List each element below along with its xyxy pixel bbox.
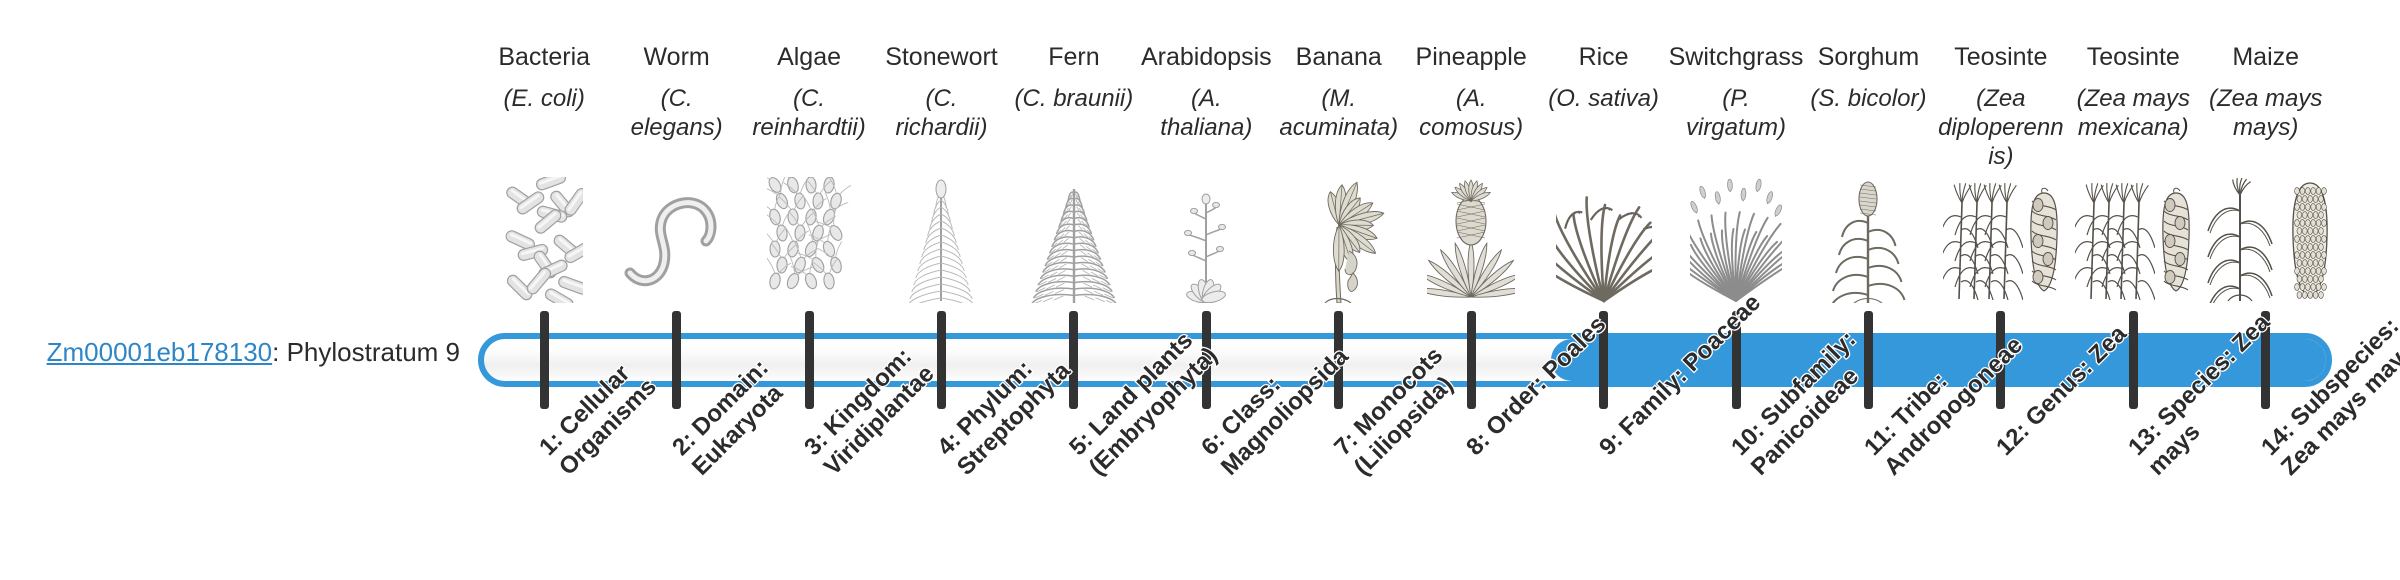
species-column: Teosinte(Zea diploperennis): [1935, 0, 2067, 330]
species-columns: Bacteria(E. coli)Worm(C. elegans) Algae(…: [478, 0, 2332, 330]
taxonomic-rank-labels: 1: Cellular Organisms2: Domain: Eukaryot…: [478, 432, 2332, 580]
gene-id-link[interactable]: Zm00001eb178130: [47, 337, 273, 367]
species-common-name: Teosinte: [2087, 42, 2180, 72]
species-scientific-name: (E. coli): [502, 84, 587, 113]
phylostratum-widget: Zm00001eb178130: Phylostratum 9 Bacteria…: [0, 0, 2400, 580]
species-common-name: Banana: [1296, 42, 1382, 72]
sorghum-plant-icon: [1802, 175, 1934, 303]
species-column: Maize(Zea mays mays): [2199, 0, 2331, 330]
algae-cells-icon: [743, 175, 875, 303]
switchgrass-plant-icon: [1670, 175, 1802, 303]
phylostratum-value: Phylostratum 9: [287, 337, 460, 367]
banana-tree-icon: [1273, 175, 1405, 303]
maize-plant-and-ear-icon: [2199, 175, 2331, 303]
species-common-name: Bacteria: [498, 42, 590, 72]
species-common-name: Teosinte: [1954, 42, 2047, 72]
species-column: Algae(C. reinhardtii): [743, 0, 875, 330]
species-scientific-name: (A. comosus): [1405, 84, 1537, 142]
species-scientific-name: (A. thaliana): [1140, 84, 1272, 142]
species-column: Pineapple(A. comosus): [1405, 0, 1537, 330]
species-common-name: Fern: [1048, 42, 1099, 72]
gene-phylostratum-label: Zm00001eb178130: Phylostratum 9: [40, 336, 460, 368]
stonewort-frond-icon: [875, 175, 1007, 303]
rank-index: 12:: [1991, 417, 2035, 461]
species-column: Worm(C. elegans): [610, 0, 742, 330]
species-common-name: Worm: [644, 42, 710, 72]
species-scientific-name: (P. virgatum): [1670, 84, 1802, 142]
species-column: Rice(O. sativa): [1537, 0, 1669, 330]
species-common-name: Arabidopsis: [1141, 42, 1272, 72]
species-scientific-name: (S. bicolor): [1808, 84, 1928, 113]
species-scientific-name: (Zea mays mays): [2199, 84, 2331, 142]
species-scientific-name: (C. richardii): [875, 84, 1007, 142]
species-scientific-name: (Zea diploperennis): [1935, 84, 2067, 171]
species-column: Switchgrass(P. virgatum): [1670, 0, 1802, 330]
species-common-name: Rice: [1579, 42, 1629, 72]
species-column: Teosinte(Zea mays mexicana): [2067, 0, 2199, 330]
species-scientific-name: (Zea mays mexicana): [2067, 84, 2199, 142]
arabidopsis-plant-icon: [1140, 175, 1272, 303]
species-common-name: Pineapple: [1416, 42, 1527, 72]
species-common-name: Maize: [2232, 42, 2299, 72]
gene-label-separator: :: [272, 337, 286, 367]
species-column: Fern(C. braunii): [1008, 0, 1140, 330]
species-column: Banana(M. acuminata): [1273, 0, 1405, 330]
species-scientific-name: (C. elegans): [610, 84, 742, 142]
species-column: Bacteria(E. coli): [478, 0, 610, 330]
species-column: Stonewort(C. richardii): [875, 0, 1007, 330]
species-column: Sorghum(S. bicolor): [1802, 0, 1934, 330]
bacteria-rods-icon: [478, 175, 610, 303]
species-scientific-name: (C. reinhardtii): [743, 84, 875, 142]
rice-plant-icon: [1537, 175, 1669, 303]
species-common-name: Stonewort: [885, 42, 998, 72]
nematode-worm-icon: [610, 175, 742, 303]
species-common-name: Switchgrass: [1669, 42, 1804, 72]
species-scientific-name: (O. sativa): [1546, 84, 1661, 113]
teosinte-plant-and-ear-icon: [1935, 175, 2067, 303]
fern-frond-icon: [1008, 175, 1140, 303]
teosinte-plant-and-ear-icon: [2067, 175, 2199, 303]
species-common-name: Algae: [777, 42, 841, 72]
species-scientific-name: (C. braunii): [1013, 84, 1136, 113]
species-column: Arabidopsis(A. thaliana): [1140, 0, 1272, 330]
phylostratum-tick: [540, 311, 549, 409]
species-scientific-name: (M. acuminata): [1273, 84, 1405, 142]
species-common-name: Sorghum: [1818, 42, 1919, 72]
pineapple-plant-icon: [1405, 175, 1537, 303]
